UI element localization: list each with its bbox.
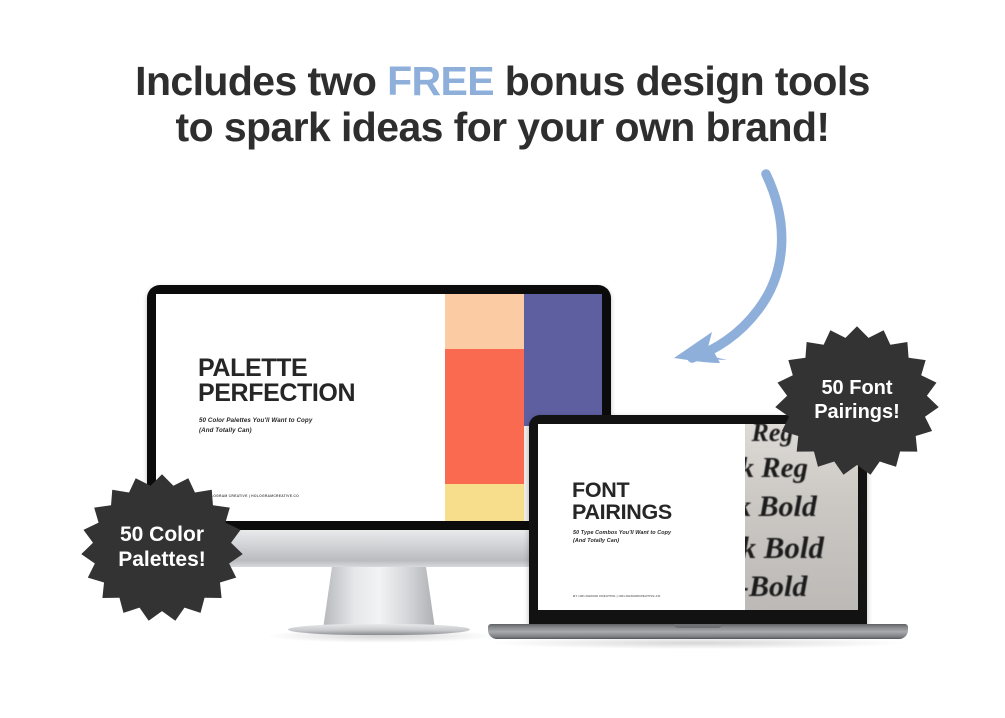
palette-title-line-1: PALETTE (198, 356, 355, 381)
palette-title-line-2: PERFECTION (198, 381, 355, 406)
font-title-line-2: PAIRINGS (572, 501, 672, 523)
laptop-shadow (493, 637, 903, 649)
headline-line-2: to spark ideas for your own brand! (0, 104, 1005, 150)
palette-document-subtitle: 50 Color Palettes You'll Want to Copy (A… (199, 416, 312, 435)
palette-swatch-peach (445, 294, 524, 349)
headline-text-before: Includes two (135, 58, 387, 104)
type-specimen-line: X-Bold (745, 570, 807, 604)
font-subtitle-line-1: 50 Type Combos You'll Want to Copy (573, 529, 671, 537)
headline-text-after: bonus design tools (494, 58, 870, 104)
font-document-title: FONT PAIRINGS (572, 479, 672, 523)
monitor-stand-neck (323, 567, 435, 629)
palette-subtitle-line-2: (And Totally Can) (199, 426, 312, 436)
laptop-base-notch (674, 624, 722, 628)
palette-subtitle-line-1: 50 Color Palettes You'll Want to Copy (199, 416, 312, 426)
badge-font-pairings: 50 Font Pairings! (766, 318, 948, 484)
badge-color-palettes: 50 Color Palettes! (72, 466, 252, 630)
starburst-shape-icon (766, 318, 948, 484)
font-subtitle-line-2: (And Totally Can) (573, 537, 671, 545)
monitor-shadow (265, 629, 497, 643)
type-specimen-line: ok Bold (745, 490, 817, 524)
headline-free-highlight: FREE (387, 58, 494, 104)
headline-line-1: Includes two FREE bonus design tools (135, 58, 870, 104)
font-title-line-1: FONT (572, 479, 672, 501)
font-document-subtitle: 50 Type Combos You'll Want to Copy (And … (573, 529, 671, 545)
palette-swatch-purple (524, 294, 602, 426)
palette-document-title: PALETTE PERFECTION (198, 356, 355, 406)
page-headline: Includes two FREE bonus design tools to … (0, 58, 1005, 150)
starburst-shape-icon (72, 466, 252, 630)
type-specimen-line: ok Bold (745, 530, 824, 566)
font-document-footer: BY HOLOGRAM CREATIVE | HOLOGRAMCREATIVE.… (573, 594, 661, 598)
